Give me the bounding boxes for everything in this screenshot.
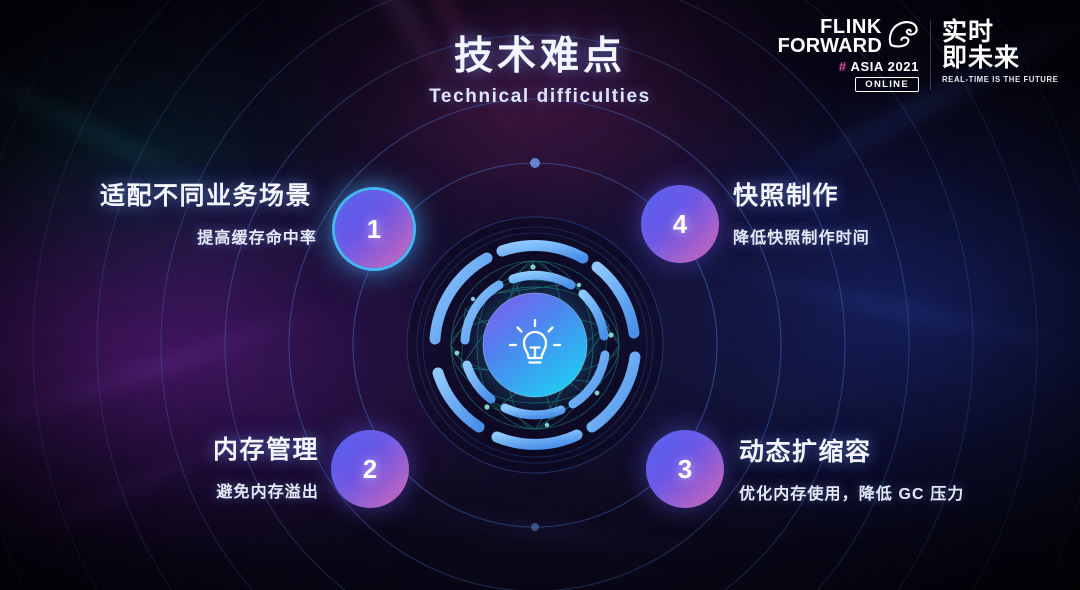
step-bubble-1[interactable]: 1 [335, 190, 413, 268]
item-block-3: 动态扩缩容 优化内存使用，降低 GC 压力 [739, 432, 1069, 504]
logo-forward-text: FORWARD [778, 37, 882, 56]
step-bubble-4[interactable]: 4 [641, 185, 719, 263]
central-hub-graphic [385, 195, 685, 495]
logo-flink-forward-block: FLINK FORWARD # ASIA 2021 ONLINE [778, 18, 919, 92]
item-block-1: 适配不同业务场景 提高缓存命中率 [20, 176, 320, 248]
item-4-subtitle: 降低快照制作时间 [733, 224, 1053, 248]
step-bubble-2[interactable]: 2 [331, 430, 409, 508]
item-1-heading: 适配不同业务场景 [20, 176, 320, 212]
item-1-subtitle: 提高缓存命中率 [20, 224, 320, 248]
item-2-subtitle: 避免内存溢出 [20, 478, 320, 502]
logo-asia-year: ASIA 2021 [850, 59, 919, 74]
logo-cn-line2: 即未来 [942, 46, 1020, 72]
item-3-subtitle: 优化内存使用，降低 GC 压力 [739, 480, 1069, 504]
logo-chinese-block: 实时 即未来 REAL-TIME IS THE FUTURE [942, 18, 1062, 84]
slide-canvas: 技术难点 Technical difficulties FLINK FORWAR… [0, 0, 1080, 590]
step-bubble-3[interactable]: 3 [646, 430, 724, 508]
item-4-heading: 快照制作 [733, 176, 1053, 212]
item-block-4: 快照制作 降低快照制作时间 [733, 176, 1053, 248]
logo-cn-line1: 实时 [942, 20, 994, 46]
brand-logo: FLINK FORWARD # ASIA 2021 ONLINE 实时 即未来 [778, 18, 1062, 92]
logo-hash-symbol: # [839, 59, 847, 74]
item-block-2: 内存管理 避免内存溢出 [20, 430, 320, 502]
logo-online-badge: ONLINE [855, 77, 919, 93]
item-2-heading: 内存管理 [20, 430, 320, 466]
logo-flink-text: FLINK [820, 18, 882, 37]
item-3-heading: 动态扩缩容 [739, 432, 1069, 468]
logo-tagline: REAL-TIME IS THE FUTURE [942, 75, 1058, 84]
logo-divider [930, 20, 931, 90]
squirrel-icon [885, 19, 919, 54]
